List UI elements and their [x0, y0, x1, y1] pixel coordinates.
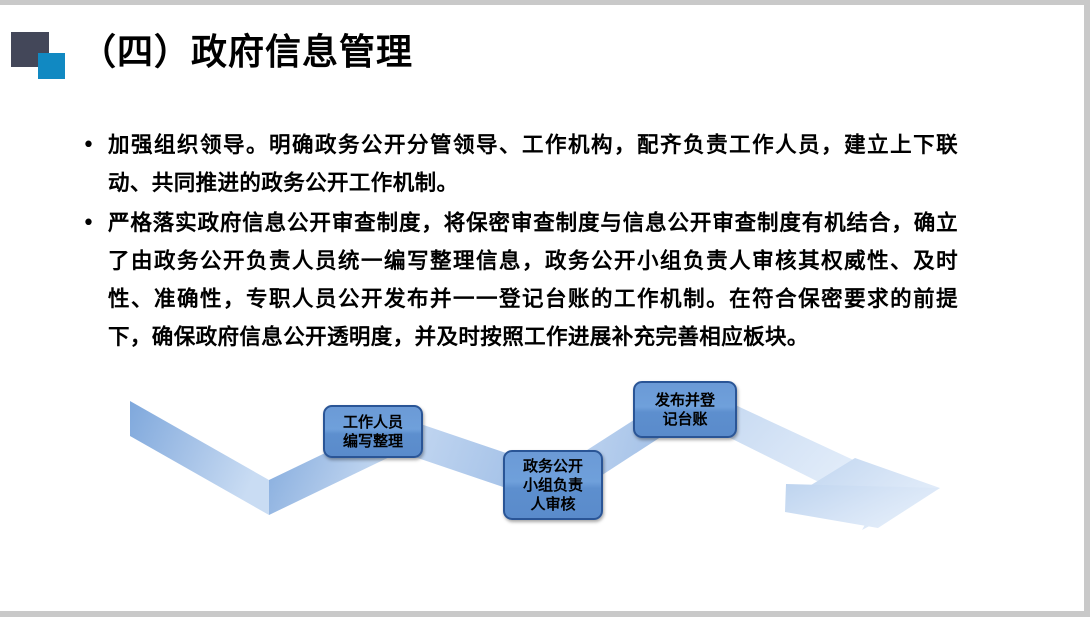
- bullet-marker-icon: •: [78, 127, 108, 165]
- bullet-list: • 加强组织领导。明确政务公开分管领导、工作机构，配齐负责工作人员，建立上下联动…: [78, 127, 958, 359]
- list-item: • 加强组织领导。明确政务公开分管领导、工作机构，配齐负责工作人员，建立上下联动…: [78, 127, 958, 203]
- window-bottom-border: [0, 611, 1090, 617]
- process-step-box[interactable]: 发布并登 记台账: [633, 381, 737, 438]
- process-step-line: 编写整理: [343, 432, 403, 451]
- slide-canvas: （四）政府信息管理 • 加强组织领导。明确政务公开分管领导、工作机构，配齐负责工…: [0, 5, 1084, 611]
- process-step-line: 记台账: [655, 410, 715, 429]
- process-step-box[interactable]: 工作人员 编写整理: [323, 405, 423, 458]
- bullet-text: 加强组织领导。明确政务公开分管领导、工作机构，配齐负责工作人员，建立上下联动、共…: [108, 127, 958, 203]
- process-step-line: 人审核: [523, 495, 583, 514]
- window-right-border: [1084, 0, 1090, 617]
- bullet-marker-icon: •: [78, 205, 108, 243]
- arrow-head-fill: [785, 484, 940, 528]
- process-step-line: 小组负责: [523, 476, 583, 495]
- process-step-line: 工作人员: [343, 413, 403, 432]
- list-item: • 严格落实政府信息公开审查制度，将保密审查制度与信息公开审查制度有机结合，确立…: [78, 205, 958, 357]
- page-title: （四）政府信息管理: [80, 31, 413, 74]
- bullet-text: 严格落实政府信息公开审查制度，将保密审查制度与信息公开审查制度有机结合，确立了由…: [108, 205, 958, 357]
- arrow-segment-1: [130, 401, 269, 515]
- process-step-box[interactable]: 政务公开 小组负责 人审核: [503, 450, 603, 520]
- process-step-line: 发布并登: [655, 391, 715, 410]
- title-decoration: [11, 32, 73, 80]
- process-step-line: 政务公开: [523, 457, 583, 476]
- slide-root: （四）政府信息管理 • 加强组织领导。明确政务公开分管领导、工作机构，配齐负责工…: [0, 0, 1090, 617]
- decoration-square-blue-icon: [38, 53, 65, 79]
